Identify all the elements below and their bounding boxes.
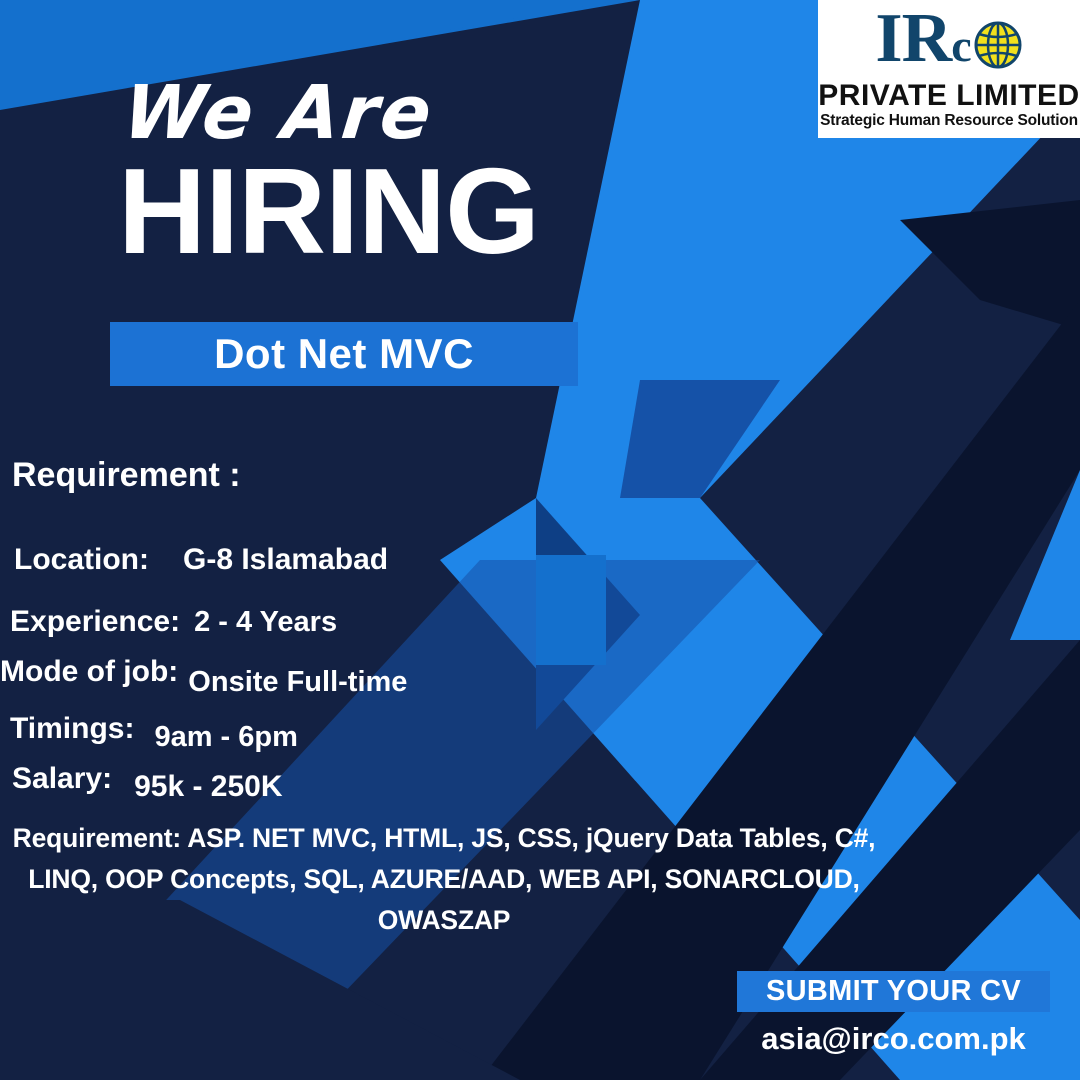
globe-icon: [973, 20, 1023, 70]
headline-script: We Are: [120, 74, 437, 152]
job-title-text: Dot Net MVC: [214, 333, 474, 375]
detail-label: Mode of job:: [0, 656, 178, 688]
detail-value: Onsite Full-time: [188, 666, 407, 698]
detail-row-mode-of-job: Mode of job: Onsite Full-time: [0, 656, 407, 688]
skills-paragraph: Requirement: ASP. NET MVC, HTML, JS, CSS…: [0, 818, 888, 941]
detail-row-location: Location: G-8 Islamabad: [14, 544, 388, 576]
detail-label: Salary:: [12, 763, 112, 795]
detail-row-timings: Timings: 9am - 6pm: [10, 713, 298, 745]
logo-tagline: Strategic Human Resource Solution: [820, 111, 1078, 130]
detail-value: G-8 Islamabad: [183, 544, 388, 576]
detail-value: 9am - 6pm: [154, 721, 297, 753]
detail-value: 2 - 4 Years: [194, 606, 337, 638]
detail-row-experience: Experience: 2 - 4 Years: [10, 606, 337, 638]
detail-label: Location:: [14, 544, 149, 576]
job-title-banner: Dot Net MVC: [110, 322, 578, 386]
logo-company-line: PRIVATE LIMITED: [818, 80, 1079, 111]
contact-email[interactable]: asia@irco.com.pk: [737, 1022, 1050, 1056]
bg-accent-square: [536, 555, 606, 665]
submit-cv-label: SUBMIT YOUR CV: [766, 977, 1021, 1006]
detail-row-salary: Salary: 95k - 250K: [12, 763, 283, 795]
hiring-poster: IRc PRIVATE LIMITED Strategic Human Reso…: [0, 0, 1080, 1080]
headline-main: HIRING: [118, 150, 539, 272]
detail-value: 95k - 250K: [134, 771, 282, 803]
submit-cv-button[interactable]: SUBMIT YOUR CV: [737, 971, 1050, 1012]
company-logo: IRc PRIVATE LIMITED Strategic Human Reso…: [818, 0, 1080, 138]
requirement-heading: Requirement :: [12, 458, 241, 492]
logo-mark-text: IRc: [875, 4, 970, 81]
logo-wordmark: IRc: [818, 4, 1080, 80]
detail-label: Experience:: [10, 606, 180, 638]
detail-label: Timings:: [10, 713, 134, 745]
